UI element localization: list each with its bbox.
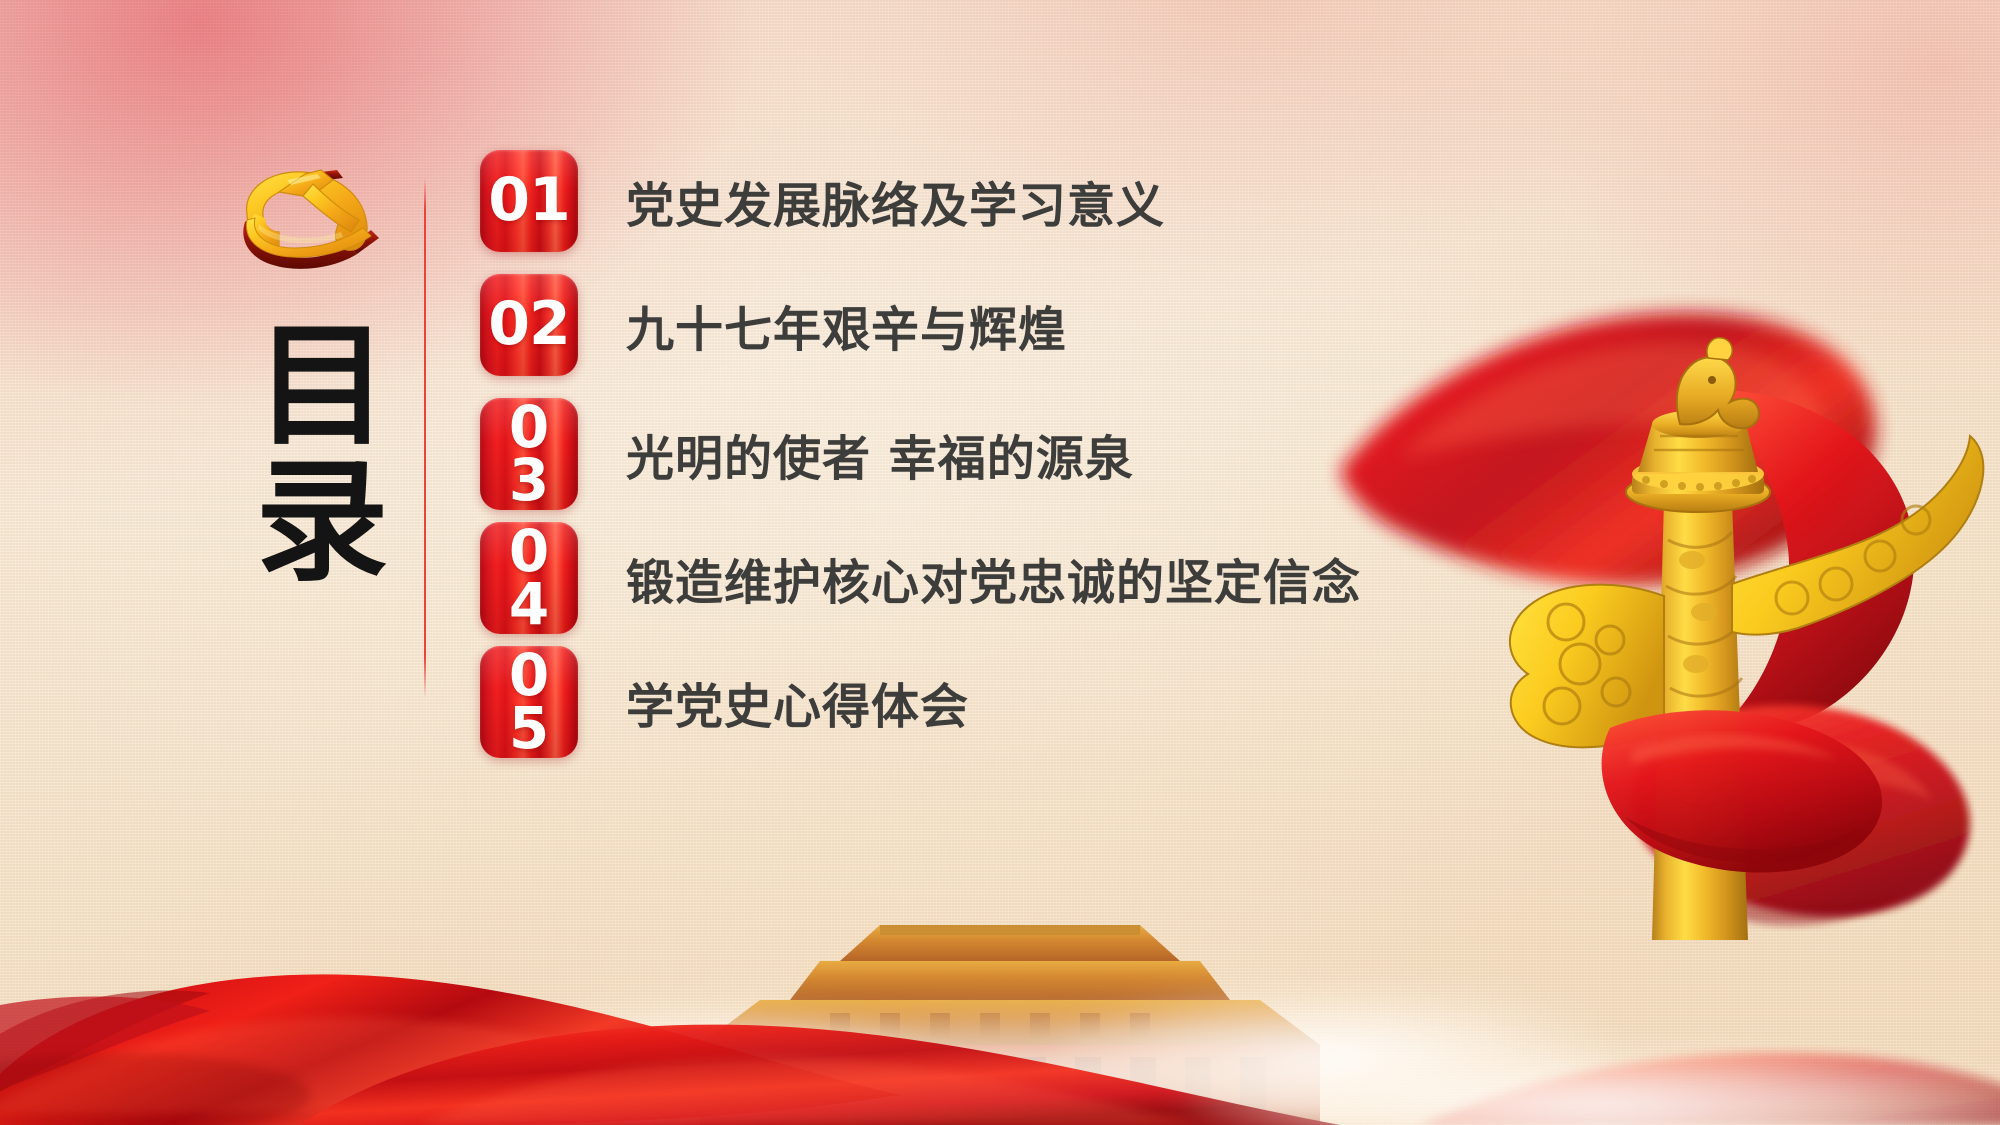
page-title: 目 录 — [222, 320, 422, 591]
toc-label-03: 光明的使者 幸福的源泉 — [626, 419, 1134, 489]
toc-number-05: 0 5 — [509, 649, 549, 756]
slide-canvas: 目 录 01 党史发展脉络及学习意义 02 九十七年艰辛与辉煌 0 3 — [0, 0, 2000, 1125]
toc-badge-01[interactable]: 01 — [480, 150, 578, 252]
title-char-1: 目 — [222, 320, 422, 456]
toc-number-05-digit-2: 5 — [509, 702, 549, 755]
right-decoration — [1280, 240, 2000, 940]
left-column: 目 录 — [0, 0, 430, 1125]
toc-number-04-digit-2: 4 — [509, 578, 549, 631]
toc-badge-03[interactable]: 0 3 — [480, 398, 578, 510]
toc-number-03: 0 3 — [509, 401, 549, 508]
toc-badge-05[interactable]: 0 5 — [480, 646, 578, 758]
toc-label-02: 九十七年艰辛与辉煌 — [626, 290, 1067, 360]
toc-item-04[interactable]: 0 4 锻造维护核心对党忠诚的坚定信念 — [480, 522, 1361, 634]
toc-badge-04[interactable]: 0 4 — [480, 522, 578, 634]
vertical-divider — [424, 178, 426, 698]
toc-badge-02[interactable]: 02 — [480, 274, 578, 376]
toc-item-03[interactable]: 0 3 光明的使者 幸福的源泉 — [480, 398, 1134, 510]
toc-number-01: 01 — [488, 173, 570, 228]
party-emblem-icon — [225, 158, 400, 273]
hammer-sickle-icon — [225, 158, 400, 273]
title-char-2: 录 — [222, 456, 422, 592]
huabiao-ribbon-svg — [1280, 240, 2000, 940]
toc-label-05: 学党史心得体会 — [626, 667, 969, 737]
toc-item-01[interactable]: 01 党史发展脉络及学习意义 — [480, 150, 1165, 252]
toc-number-03-digit-2: 3 — [509, 454, 549, 507]
toc-number-04: 0 4 — [509, 525, 549, 632]
toc-item-02[interactable]: 02 九十七年艰辛与辉煌 — [480, 274, 1067, 376]
toc-number-02: 02 — [488, 297, 570, 352]
toc-label-01: 党史发展脉络及学习意义 — [626, 166, 1165, 236]
toc-label-04: 锻造维护核心对党忠诚的坚定信念 — [626, 543, 1361, 613]
toc-item-05[interactable]: 0 5 学党史心得体会 — [480, 646, 969, 758]
